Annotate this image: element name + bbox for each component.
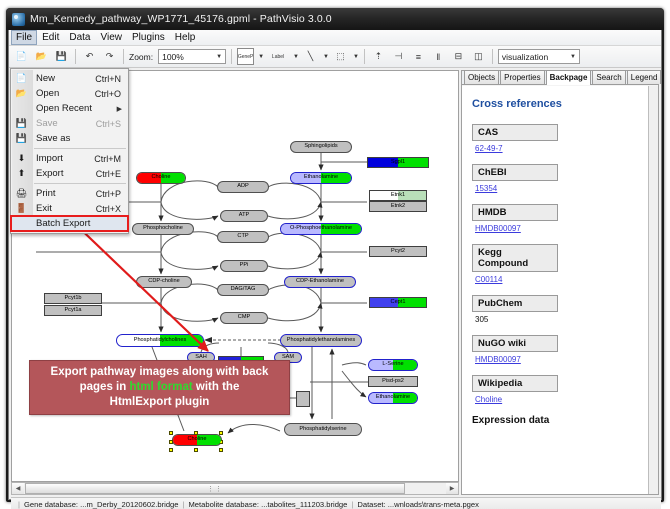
node-label: Phosphatidylcholines	[134, 338, 187, 344]
side-panel: Objects Properties Backpage Search Legen…	[461, 70, 659, 495]
pathway-node-ethanolamine2[interactable]: Ethanolamine	[368, 392, 418, 404]
callout-line2-post: with the	[193, 381, 240, 393]
node-label: Phosphatidylserine	[299, 427, 346, 433]
tool-bar: 📄 📂 💾 ↶ ↷ Zoom: 100% ▼ GeneP ▼ Label ▼ ╲…	[9, 46, 661, 68]
backpage-scroll-area: Cross references CAS62-49-7ChEBI15354HMD…	[462, 86, 658, 494]
node-label: Ethanolamine	[376, 395, 410, 401]
menu-item-label: New	[32, 73, 95, 84]
xref-value-nugo-wiki[interactable]: HMDB00097	[475, 355, 638, 364]
xref-value-hmdb[interactable]: HMDB00097	[475, 224, 638, 233]
status-gene-database: Gene database: ...m_Derby_20120602.bridg…	[24, 500, 179, 509]
print-icon: 🖨	[11, 186, 32, 201]
xref-link[interactable]: 62-49-7	[475, 144, 503, 153]
menu-item-accelerator: Ctrl+X	[96, 204, 128, 214]
pathway-node-pcyt1a[interactable]: Pcyt1a	[44, 305, 102, 316]
open-icon[interactable]: 📂	[33, 48, 50, 65]
pathvisio-icon	[12, 13, 25, 26]
chevron-right-icon: ▶	[117, 105, 128, 113]
new-icon[interactable]: 📄	[13, 48, 30, 65]
gene-product-tool-icon[interactable]: GeneP	[237, 48, 254, 65]
pathway-node-pisd2[interactable]: Pisd-ps2	[368, 376, 418, 387]
side-panel-tabs: Objects Properties Backpage Search Legen…	[462, 71, 658, 85]
menu-item-open[interactable]: 📂OpenCtrl+O	[11, 86, 128, 101]
toolbar-divider	[492, 49, 493, 64]
callout-line3: HtmlExport plugin	[110, 396, 210, 408]
chevron-down-icon[interactable]: ▼	[293, 54, 299, 60]
menu-item-save-as[interactable]: 💾Save as	[11, 131, 128, 146]
distribute-icon[interactable]: ‖	[430, 48, 447, 65]
menu-help[interactable]: Help	[170, 30, 201, 45]
menu-item-label: Save as	[32, 133, 121, 144]
node-label: L-Serine	[382, 362, 403, 368]
backpage-content: Cross references CAS62-49-7ChEBI15354HMD…	[462, 86, 648, 426]
node-label: Pcyt2	[391, 249, 405, 255]
menu-data[interactable]: Data	[64, 30, 95, 45]
pathway-node-etnk1[interactable]: Etnk1	[369, 190, 427, 201]
pathway-node-ctp[interactable]: CTP	[217, 231, 269, 243]
pathway-node-choline[interactable]: Choline	[136, 172, 186, 184]
visualization-value: visualization	[502, 52, 548, 62]
save-icon: 💾	[11, 116, 32, 131]
annotation-callout: Export pathway images along with back pa…	[29, 360, 290, 415]
node-label: CDP-Ethanolamine	[296, 279, 344, 285]
menu-item-accelerator: Ctrl+O	[95, 89, 128, 99]
align-top-icon[interactable]: ⇡	[370, 48, 387, 65]
node-label: Pisd-ps2	[382, 379, 404, 385]
import-icon: ⬇	[11, 151, 32, 166]
node-label: Choline	[188, 437, 207, 443]
xref-header-hmdb: HMDB	[472, 204, 558, 221]
zoom-combo[interactable]: 100% ▼	[158, 49, 226, 64]
menu-item-accelerator: Ctrl+N	[95, 74, 128, 84]
pathway-node-cept1[interactable]: Cept1	[369, 297, 427, 308]
menu-bar: File Edit Data View Plugins Help	[9, 30, 661, 46]
pathway-node-pcyt2[interactable]: Pcyt2	[369, 246, 427, 257]
application-window: Mm_Kennedy_pathway_WP1771_45176.gpml - P…	[6, 8, 664, 502]
pathway-node-etnk2[interactable]: Etnk2	[369, 201, 427, 212]
menu-item-exit[interactable]: 🚪ExitCtrl+X	[11, 201, 128, 216]
tab-objects[interactable]: Objects	[464, 70, 499, 84]
canvas-horizontal-scrollbar[interactable]: ◀ ⋮⋮ ▶	[11, 482, 459, 495]
node-label: Cept1	[391, 300, 406, 306]
zoom-value: 100%	[162, 52, 184, 62]
open-folder-icon: 📂	[11, 86, 32, 101]
pathway-node-ptdserine[interactable]: Phosphatidylserine	[284, 423, 362, 436]
menu-item-accelerator: Ctrl+M	[94, 154, 128, 164]
xref-header-pubchem: PubChem	[472, 295, 558, 312]
callout-line2-pre: pages in	[80, 381, 130, 393]
visualization-combo[interactable]: visualization ▼	[498, 49, 580, 64]
pathway-node-choline-sel[interactable]: Choline	[172, 434, 222, 446]
toolbar-divider	[75, 49, 76, 64]
node-label: Etnk2	[391, 204, 405, 210]
menu-item-label: Open Recent	[32, 103, 117, 114]
menu-item-label: Print	[32, 188, 96, 199]
scrollbar-thumb[interactable]: ⋮⋮	[25, 483, 405, 494]
node-label: Phosphatidylethanolamines	[287, 338, 355, 344]
menu-item-print[interactable]: 🖨PrintCtrl+P	[11, 186, 128, 201]
window-title-bar[interactable]: Mm_Kennedy_pathway_WP1771_45176.gpml - P…	[6, 8, 664, 30]
exit-icon: 🚪	[11, 201, 32, 216]
pathway-node-ppi[interactable]: PPi	[220, 260, 268, 272]
xref-link[interactable]: Choline	[475, 395, 502, 404]
node-label: ADP	[237, 184, 249, 190]
pathway-node-o-phosphoeth[interactable]: O-Phosphoethanolamine	[280, 223, 362, 235]
menu-divider	[34, 148, 126, 149]
menu-divider	[34, 183, 126, 184]
xref-link[interactable]: HMDB00097	[475, 224, 521, 233]
node-label: Sphingolipids	[304, 144, 337, 150]
node-label: CDP-choline	[148, 279, 179, 285]
menu-item-export[interactable]: ⬆ExportCtrl+E	[11, 166, 128, 181]
label-tool-icon[interactable]: Label	[267, 48, 289, 65]
undo-icon[interactable]: ↶	[81, 48, 98, 65]
node-label: Ethanolamine	[304, 175, 338, 181]
scroll-left-icon[interactable]: ◀	[12, 483, 24, 494]
menu-file[interactable]: File	[11, 30, 37, 45]
tab-properties[interactable]: Properties	[500, 70, 544, 84]
menu-item-accelerator: Ctrl+S	[96, 119, 128, 129]
node-label: DAG/TAG	[231, 287, 256, 293]
new-file-icon: 📄	[11, 71, 32, 86]
node-label: CTP	[237, 234, 248, 240]
menu-view[interactable]: View	[95, 30, 127, 45]
screenshot-root: Mm_Kennedy_pathway_WP1771_45176.gpml - P…	[0, 0, 670, 509]
callout-line2-highlight: html format	[129, 381, 192, 393]
xref-header-chebi: ChEBI	[472, 164, 558, 181]
status-bar: | Gene database: ...m_Derby_20120602.bri…	[11, 497, 661, 509]
status-divider: |	[183, 500, 185, 509]
pathway-node-cdp-choline[interactable]: CDP-choline	[136, 276, 192, 288]
save-as-icon: 💾	[11, 131, 32, 146]
menu-item-new[interactable]: 📄NewCtrl+N	[11, 71, 128, 86]
pathway-node-sphingolipids[interactable]: Sphingolipids	[290, 141, 352, 153]
expression-data-heading: Expression data	[472, 415, 638, 426]
pathway-node-dag-tag[interactable]: DAG/TAG	[217, 284, 269, 296]
xref-header-wikipedia: Wikipedia	[472, 375, 558, 392]
callout-line1: Export pathway images along with back	[51, 366, 269, 378]
pathway-node-pcyt1b[interactable]: Pcyt1b	[44, 293, 102, 304]
menu-item-save: 💾SaveCtrl+S	[11, 116, 128, 131]
tab-legend[interactable]: Legend	[627, 70, 662, 84]
node-label: PPi	[240, 263, 249, 269]
pathway-node-lserine[interactable]: L-Serine	[368, 359, 418, 371]
scroll-grip-icon: ⋮⋮	[207, 485, 223, 493]
pathway-node-hidden-gene2[interactable]	[296, 391, 310, 407]
menu-plugins[interactable]: Plugins	[127, 30, 170, 45]
pathway-node-cmp[interactable]: CMP	[220, 312, 268, 324]
xref-link[interactable]: HMDB00097	[475, 355, 521, 364]
node-label: Etnk1	[391, 193, 405, 199]
pathway-node-sgpl1[interactable]: Sgpl1	[367, 157, 429, 168]
file-menu-rows: 📄NewCtrl+N📂OpenCtrl+OOpen Recent▶💾SaveCt…	[11, 71, 128, 231]
xref-header-nugo-wiki: NuGO wiki	[472, 335, 558, 352]
pathway-node-ethanolamine[interactable]: Ethanolamine	[290, 172, 352, 184]
status-divider: |	[351, 500, 353, 509]
menu-item-label: Save	[32, 118, 96, 129]
node-label: Sgpl1	[391, 160, 405, 166]
status-divider: |	[18, 500, 20, 509]
pathway-node-ptdeth[interactable]: Phosphatidylethanolamines	[280, 334, 362, 347]
menu-edit[interactable]: Edit	[37, 30, 64, 45]
align-left-icon[interactable]: ⊣	[390, 48, 407, 65]
status-metabolite-database: Metabolite database: ...tabolites_111203…	[188, 500, 347, 509]
menu-item-label: Exit	[32, 203, 96, 214]
menu-item-import[interactable]: ⬇ImportCtrl+M	[11, 151, 128, 166]
tab-backpage[interactable]: Backpage	[546, 70, 592, 85]
pathway-node-ptdcholines[interactable]: Phosphatidylcholines	[116, 334, 204, 347]
xref-link[interactable]: C00114	[475, 275, 502, 284]
status-dataset: Dataset: ...wnloads\trans-meta.pgex	[357, 500, 479, 509]
chevron-down-icon: ▼	[570, 54, 576, 60]
chevron-down-icon[interactable]: ▼	[258, 54, 264, 60]
toolbar-divider	[123, 49, 124, 64]
menu-item-label: Batch Export	[32, 218, 121, 229]
toolbar-divider	[364, 49, 365, 64]
node-label: CMP	[238, 315, 250, 321]
save-icon[interactable]: 💾	[53, 48, 70, 65]
chevron-down-icon[interactable]: ▼	[323, 54, 329, 60]
node-label: Phosphocholine	[143, 226, 183, 232]
node-label: Pcyt1b	[64, 296, 81, 302]
application-body: File Edit Data View Plugins Help 📄 📂 💾 ↶…	[8, 30, 662, 500]
xref-link[interactable]: 15354	[475, 184, 497, 193]
xref-value-kegg-compound[interactable]: C00114	[475, 275, 638, 284]
tab-search[interactable]: Search	[592, 70, 625, 84]
xref-header-cas: CAS	[472, 124, 558, 141]
order-icon[interactable]: ◫	[470, 48, 487, 65]
chevron-down-icon[interactable]: ▼	[353, 54, 359, 60]
window-title: Mm_Kennedy_pathway_WP1771_45176.gpml - P…	[30, 13, 332, 25]
chevron-down-icon: ▼	[216, 54, 222, 60]
backpage-title: Cross references	[472, 98, 638, 110]
pathway-node-adp[interactable]: ADP	[217, 181, 269, 193]
pathway-node-phosphocholine[interactable]: Phosphocholine	[132, 223, 194, 235]
export-icon: ⬆	[11, 166, 32, 181]
scroll-right-icon[interactable]: ▶	[446, 483, 458, 494]
pathway-node-atp[interactable]: ATP	[220, 210, 268, 222]
menu-item-batch-export[interactable]: Batch Export	[11, 216, 128, 231]
toolbar-divider	[231, 49, 232, 64]
pathway-node-cdp-eth[interactable]: CDP-Ethanolamine	[284, 276, 356, 288]
xref-value-wikipedia[interactable]: Choline	[475, 395, 638, 404]
xref-value-chebi[interactable]: 15354	[475, 184, 638, 193]
xref-value-pubchem: 305	[475, 315, 638, 324]
stack-icon[interactable]: ≡	[410, 48, 427, 65]
shape-tool-icon[interactable]: ⬚	[332, 48, 349, 65]
menu-item-open-recent[interactable]: Open Recent▶	[11, 101, 128, 116]
zoom-label: Zoom:	[129, 52, 153, 62]
node-label: O-Phosphoethanolamine	[290, 226, 352, 232]
xref-value-cas[interactable]: 62-49-7	[475, 144, 638, 153]
line-tool-icon[interactable]: ╲	[302, 48, 319, 65]
backpage-vertical-scrollbar[interactable]	[648, 86, 658, 494]
node-label: Choline	[152, 175, 171, 181]
menu-item-label: Export	[32, 168, 96, 179]
node-label: Pcyt1a	[64, 308, 81, 314]
cross-reference-list: CAS62-49-7ChEBI15354HMDBHMDB00097Kegg Co…	[472, 124, 638, 404]
menu-item-accelerator: Ctrl+E	[96, 169, 128, 179]
menu-item-accelerator: Ctrl+P	[96, 189, 128, 199]
menu-item-label: Import	[32, 153, 94, 164]
redo-icon[interactable]: ↷	[101, 48, 118, 65]
node-label: ATP	[239, 213, 249, 219]
file-menu-dropdown[interactable]: 📄NewCtrl+N📂OpenCtrl+OOpen Recent▶💾SaveCt…	[10, 68, 129, 234]
group-icon[interactable]: ⊟	[450, 48, 467, 65]
menu-item-label: Open	[32, 88, 95, 99]
xref-header-kegg-compound: Kegg Compound	[472, 244, 558, 272]
